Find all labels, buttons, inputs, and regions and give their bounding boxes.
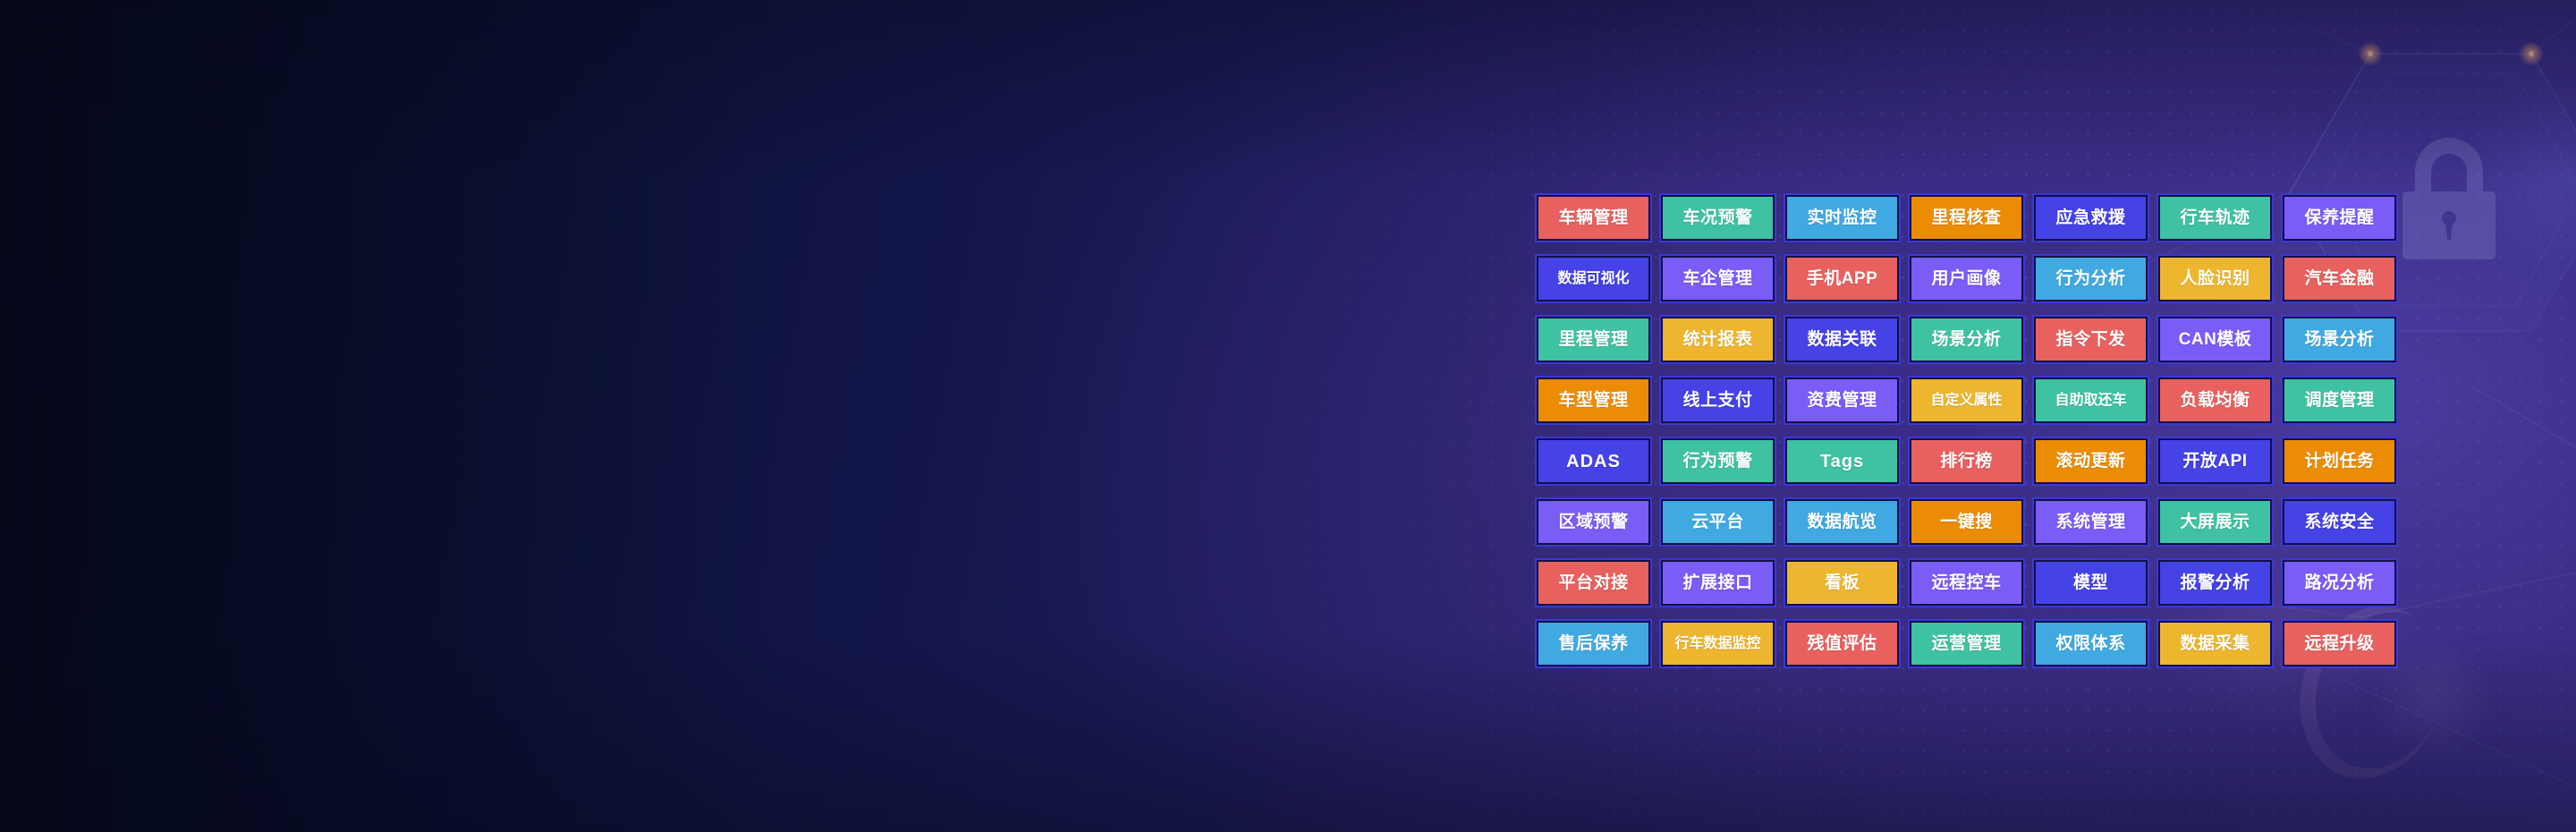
feature-tile[interactable]: 数据关联 bbox=[1784, 315, 1901, 364]
feature-tile-label: 场景分析 bbox=[2284, 318, 2394, 361]
feature-tile[interactable]: 里程核查 bbox=[1908, 193, 2025, 242]
feature-tile[interactable]: 区域预警 bbox=[1535, 497, 1652, 547]
feature-tile-label: 行车数据监控 bbox=[1663, 623, 1773, 665]
feature-tile-label: 用户画像 bbox=[1911, 258, 2021, 300]
feature-tile[interactable]: 系统安全 bbox=[2281, 497, 2398, 547]
feature-tile[interactable]: 调度管理 bbox=[2281, 376, 2398, 425]
feature-tile[interactable]: 远程控车 bbox=[1908, 558, 2025, 607]
feature-tile[interactable]: 模型 bbox=[2032, 558, 2149, 607]
feature-tile-label: 数据航览 bbox=[1787, 501, 1897, 543]
feature-tile-label: 应急救援 bbox=[2036, 197, 2146, 239]
feature-tile-label: 大屏展示 bbox=[2160, 501, 2270, 543]
feature-tile[interactable]: 数据采集 bbox=[2157, 619, 2274, 668]
feature-tile[interactable]: 用户画像 bbox=[1908, 254, 2025, 303]
feature-tile[interactable]: CAN模板 bbox=[2157, 315, 2274, 364]
feature-tile[interactable]: 负载均衡 bbox=[2157, 376, 2274, 425]
feature-tile-label: 保养提醒 bbox=[2284, 197, 2394, 239]
feature-tile-label: 自助取还车 bbox=[2036, 379, 2146, 421]
feature-tile[interactable]: 大屏展示 bbox=[2157, 497, 2274, 547]
feature-tile-label: 调度管理 bbox=[2284, 379, 2394, 421]
feature-tile-label: 路况分析 bbox=[2284, 562, 2394, 604]
feature-tile[interactable]: 云平台 bbox=[1659, 497, 1776, 547]
feature-tile-label: 残值评估 bbox=[1787, 623, 1897, 665]
feature-tile-label: 系统管理 bbox=[2036, 501, 2146, 543]
feature-tile-label: 远程升级 bbox=[2284, 623, 2394, 665]
feature-tile-label: 车型管理 bbox=[1538, 379, 1648, 421]
feature-tile[interactable]: 计划任务 bbox=[2281, 437, 2398, 486]
feature-tile[interactable]: 指令下发 bbox=[2032, 315, 2149, 364]
feature-tile-label: 实时监控 bbox=[1787, 197, 1897, 239]
feature-tile[interactable]: 自定义属性 bbox=[1908, 376, 2025, 425]
feature-tile[interactable]: 场景分析 bbox=[2281, 315, 2398, 364]
feature-tile[interactable]: 远程升级 bbox=[2281, 619, 2398, 668]
feature-tile-label: 平台对接 bbox=[1538, 562, 1648, 604]
feature-tile-label: 数据可视化 bbox=[1538, 258, 1648, 300]
feature-tile[interactable]: 系统管理 bbox=[2032, 497, 2149, 547]
feature-tile-label: 看板 bbox=[1787, 562, 1897, 604]
feature-tile-label: 统计报表 bbox=[1663, 318, 1773, 361]
screen: 车辆管理车况预警实时监控里程核查应急救援行车轨迹保养提醒数据可视化车企管理手机A… bbox=[0, 0, 2576, 832]
feature-tile-label: 线上支付 bbox=[1663, 379, 1773, 421]
feature-tile-label: 车辆管理 bbox=[1538, 197, 1648, 239]
feature-tile[interactable]: ADAS bbox=[1535, 437, 1652, 486]
feature-tile-label: 报警分析 bbox=[2160, 562, 2270, 604]
feature-tile[interactable]: 车企管理 bbox=[1659, 254, 1776, 303]
feature-tile[interactable]: 场景分析 bbox=[1908, 315, 2025, 364]
feature-tile[interactable]: 资费管理 bbox=[1784, 376, 1901, 425]
feature-tile[interactable]: 行车数据监控 bbox=[1659, 619, 1776, 668]
feature-tile-label: 人脸识别 bbox=[2160, 258, 2270, 300]
feature-tile[interactable]: 权限体系 bbox=[2032, 619, 2149, 668]
feature-tile[interactable]: 自助取还车 bbox=[2032, 376, 2149, 425]
feature-tile-label: 行为预警 bbox=[1663, 440, 1773, 482]
feature-tile-label: 里程管理 bbox=[1538, 318, 1648, 361]
feature-tile-label: 扩展接口 bbox=[1663, 562, 1773, 604]
feature-tile[interactable]: 报警分析 bbox=[2157, 558, 2274, 607]
feature-tile-label: 权限体系 bbox=[2036, 623, 2146, 665]
feature-tile-label: CAN模板 bbox=[2160, 318, 2270, 361]
feature-tile-label: 计划任务 bbox=[2284, 440, 2394, 482]
feature-tile-label: 开放API bbox=[2160, 440, 2270, 482]
feature-tile[interactable]: 看板 bbox=[1784, 558, 1901, 607]
feature-tile[interactable]: 里程管理 bbox=[1535, 315, 1652, 364]
feature-tile[interactable]: 排行榜 bbox=[1908, 437, 2025, 486]
feature-tile-label: 行为分析 bbox=[2036, 258, 2146, 300]
feature-tile-label: 汽车金融 bbox=[2284, 258, 2394, 300]
feature-tile-label: 车企管理 bbox=[1663, 258, 1773, 300]
feature-tile-label: 远程控车 bbox=[1911, 562, 2021, 604]
feature-tile[interactable]: 汽车金融 bbox=[2281, 254, 2398, 303]
feature-tile[interactable]: 一键搜 bbox=[1908, 497, 2025, 547]
feature-tile[interactable]: 行为预警 bbox=[1659, 437, 1776, 486]
feature-tile-label: Tags bbox=[1787, 440, 1897, 482]
feature-tile-label: 运营管理 bbox=[1911, 623, 2021, 665]
feature-tile[interactable]: 数据可视化 bbox=[1535, 254, 1652, 303]
feature-tile-label: 场景分析 bbox=[1911, 318, 2021, 361]
feature-tile-label: 数据采集 bbox=[2160, 623, 2270, 665]
feature-tile-label: 模型 bbox=[2036, 562, 2146, 604]
feature-tile[interactable]: 行车轨迹 bbox=[2157, 193, 2274, 242]
feature-tile[interactable]: 路况分析 bbox=[2281, 558, 2398, 607]
feature-tile[interactable]: 人脸识别 bbox=[2157, 254, 2274, 303]
feature-tile[interactable]: 统计报表 bbox=[1659, 315, 1776, 364]
feature-tile[interactable]: 数据航览 bbox=[1784, 497, 1901, 547]
feature-tile[interactable]: Tags bbox=[1784, 437, 1901, 486]
feature-tile-label: 车况预警 bbox=[1663, 197, 1773, 239]
feature-tile-label: 滚动更新 bbox=[2036, 440, 2146, 482]
feature-tile[interactable]: 手机APP bbox=[1784, 254, 1901, 303]
feature-tile-label: 里程核查 bbox=[1911, 197, 2021, 239]
feature-tile-label: 云平台 bbox=[1663, 501, 1773, 543]
feature-tile[interactable]: 保养提醒 bbox=[2281, 193, 2398, 242]
feature-tile-label: ADAS bbox=[1538, 440, 1648, 482]
feature-tile[interactable]: 行为分析 bbox=[2032, 254, 2149, 303]
feature-tile-label: 指令下发 bbox=[2036, 318, 2146, 361]
feature-tile-label: 系统安全 bbox=[2284, 501, 2394, 543]
feature-tile-label: 区域预警 bbox=[1538, 501, 1648, 543]
feature-tile[interactable]: 车辆管理 bbox=[1535, 193, 1652, 242]
feature-tile-label: 负载均衡 bbox=[2160, 379, 2270, 421]
feature-tile-label: 售后保养 bbox=[1538, 623, 1648, 665]
feature-tile[interactable]: 实时监控 bbox=[1784, 193, 1901, 242]
feature-tile[interactable]: 车型管理 bbox=[1535, 376, 1652, 425]
feature-tile-label: 排行榜 bbox=[1911, 440, 2021, 482]
feature-tile[interactable]: 开放API bbox=[2157, 437, 2274, 486]
feature-tile[interactable]: 运营管理 bbox=[1908, 619, 2025, 668]
feature-tile[interactable]: 滚动更新 bbox=[2032, 437, 2149, 486]
feature-tile-label: 资费管理 bbox=[1787, 379, 1897, 421]
feature-tile-label: 一键搜 bbox=[1911, 501, 2021, 543]
feature-tile[interactable]: 扩展接口 bbox=[1659, 558, 1776, 607]
feature-tile-label: 手机APP bbox=[1787, 258, 1897, 300]
feature-tile[interactable]: 应急救援 bbox=[2032, 193, 2149, 242]
feature-tile[interactable]: 售后保养 bbox=[1535, 619, 1652, 668]
feature-tile[interactable]: 平台对接 bbox=[1535, 558, 1652, 607]
feature-tile-label: 行车轨迹 bbox=[2160, 197, 2270, 239]
feature-tile-label: 数据关联 bbox=[1787, 318, 1897, 361]
feature-tile[interactable]: 线上支付 bbox=[1659, 376, 1776, 425]
feature-tile-label: 自定义属性 bbox=[1911, 379, 2021, 421]
feature-tile[interactable]: 车况预警 bbox=[1659, 193, 1776, 242]
feature-tile-grid: 车辆管理车况预警实时监控里程核查应急救援行车轨迹保养提醒数据可视化车企管理手机A… bbox=[1535, 193, 2398, 668]
feature-tile[interactable]: 残值评估 bbox=[1784, 619, 1901, 668]
